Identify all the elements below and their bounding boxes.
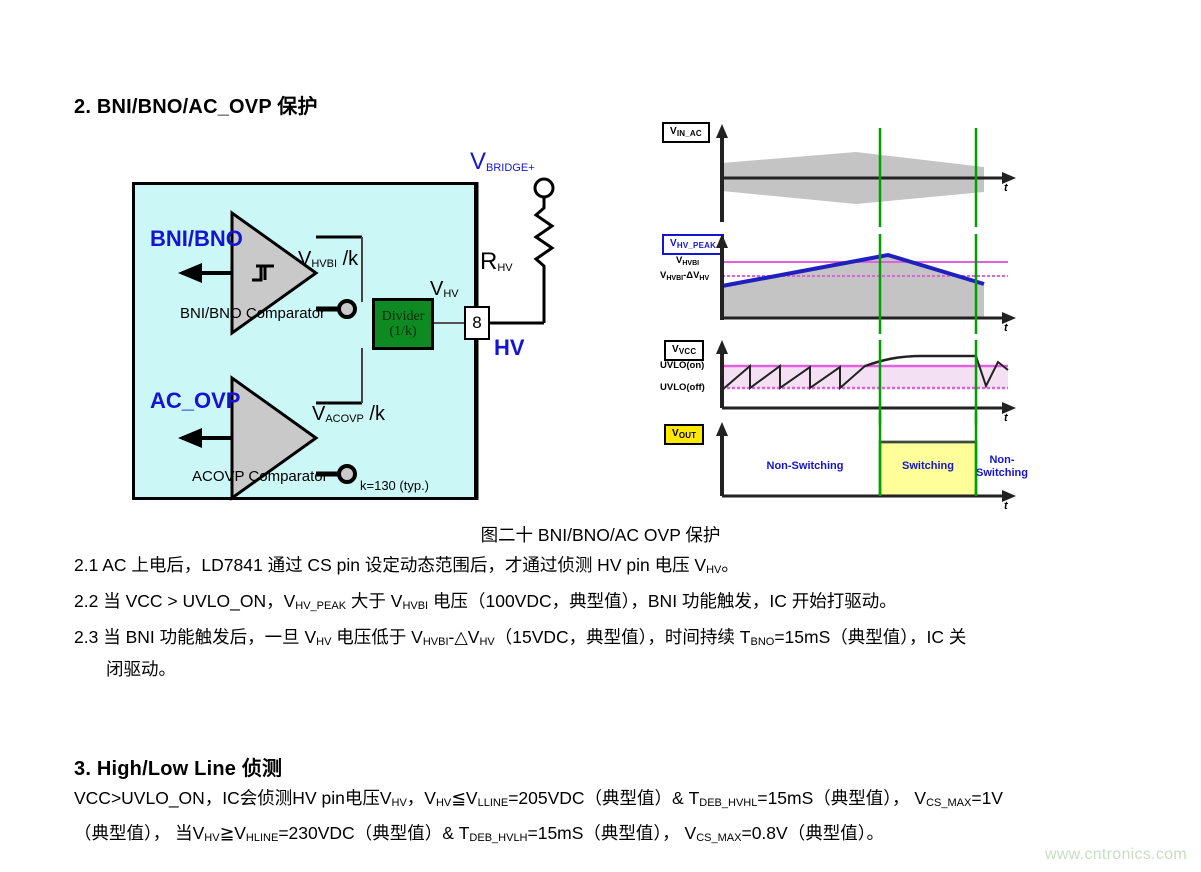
- item-2-1-text1: AC 上电后，LD7841 通过 CS pin 设定动态范围后，才通过侦测 HV…: [102, 555, 706, 575]
- item-2-2-text3: 电压（100VDC，典型值），BNI 功能触发，IC 开始打驱动。: [428, 591, 897, 611]
- zone-label-non-switching-1: Non-Switching: [740, 460, 870, 473]
- s3l1-t6: =1V: [971, 788, 1003, 808]
- s3l2-t3: =230VDC（典型值）& T: [278, 823, 469, 843]
- s3l1-t2: ，V: [407, 788, 436, 808]
- item-2-2: 2.2 当 VCC > UVLO_ON，VHV_PEAK 大于 VHVBI 电压…: [74, 586, 897, 621]
- vhv-sub: HV: [443, 288, 458, 300]
- item-2-1: 2.1 AC 上电后，LD7841 通过 CS pin 设定动态范围后，才通过侦…: [74, 550, 739, 585]
- section-2-heading: 2. BNI/BNO/AC_OVP 保护: [74, 90, 318, 119]
- v-bridge-sub: BRIDGE+: [486, 162, 535, 174]
- threshold-label-vhvbi: VHVBI: [676, 255, 699, 267]
- item-2-3-sub4: BNO: [750, 636, 774, 648]
- site-watermark: www.cntronics.com: [1045, 846, 1187, 864]
- timing-diagram: VIN_AC t VHV_PEAK: [660, 122, 1025, 512]
- panel-vvcc: VVCC UVLO(on) UVLO(off) t: [660, 340, 1025, 425]
- section-3-line-2: （典型值）， 当VHV≧VHLINE=230VDC（典型值）& TDEB_HVL…: [74, 818, 884, 853]
- label-hv-pin: HV: [494, 335, 525, 361]
- item-2-3-sub2: HVBI: [423, 636, 449, 648]
- s3l1-sub1: HV: [392, 797, 407, 809]
- item-2-3-text4: （15VDC，典型值），时间持续 T: [495, 627, 751, 647]
- section-3-heading: 3. High/Low Line 侦测: [74, 752, 282, 781]
- item-2-2-text1: 当 VCC > UVLO_ON，V: [103, 591, 295, 611]
- label-rhv: RHV: [480, 248, 513, 276]
- item-2-2-sub2: HVBI: [402, 600, 428, 612]
- label-bni-bno-comparator: BNI/BNO Comparator: [180, 305, 325, 322]
- item-2-1-sub1: HV: [706, 564, 721, 576]
- item-2-3-text1: 当 BNI 功能触发后，一旦 V: [103, 627, 316, 647]
- divider-label-line1: Divider: [375, 309, 431, 324]
- section-3-line-1: VCC>UVLO_ON，IC会侦测HV pin电压VHV，VHV≦VLLINE=…: [74, 783, 1003, 818]
- label-acovp-comparator: ACOVP Comparator: [192, 468, 328, 485]
- panel-vhv-peak: VHV_PEAK VHVBI VHVBI-ΔVHV t: [660, 234, 1025, 334]
- s3l1-t5: =15mS（典型值）， V: [757, 788, 926, 808]
- s3l2-sub4: CS_MAX: [696, 832, 741, 844]
- item-2-2-text2: 大于 V: [346, 591, 402, 611]
- s3l2-sub3: DEB_HVLH: [469, 832, 527, 844]
- item-2-3-text2: 电压低于 V: [331, 627, 422, 647]
- label-vhvbi-over-k: VHVBI /k: [298, 248, 358, 271]
- vhvbi-d-mid: -ΔV: [683, 270, 699, 281]
- s3l1-t1: VCC>UVLO_ON，IC会侦测HV pin电压V: [74, 788, 392, 808]
- s3l2-sub1: HV: [204, 832, 219, 844]
- item-2-3-num: 2.3: [74, 627, 98, 647]
- item-2-3-line1: 2.3 当 BNI 功能触发后，一旦 VHV 电压低于 VHVBI-△VHV（1…: [74, 622, 966, 657]
- s3l2-t2: ≧V: [220, 823, 246, 843]
- zone-label-non-switching-2: Non- Switching: [976, 454, 1028, 480]
- divider-block: Divider (1/k): [372, 298, 434, 350]
- label-ac-ovp: AC_OVP: [150, 388, 240, 414]
- axis-label-t-4: t: [1004, 500, 1008, 512]
- zone3-line2: Switching: [976, 467, 1028, 479]
- item-2-3-line2: 闭驱动。: [106, 654, 176, 684]
- item-2-2-sub1: HV_PEAK: [295, 600, 346, 612]
- item-2-3-sub3: HV: [479, 636, 494, 648]
- vhvbi-thr-sub: HVBI: [682, 260, 699, 267]
- threshold-label-uvlo-off: UVLO(off): [660, 382, 705, 393]
- s3l1-t4: =205VDC（典型值）& T: [508, 788, 699, 808]
- item-2-1-text2: 。: [721, 555, 739, 575]
- label-k-typical: k=130 (typ.): [360, 478, 429, 493]
- s3l2-sub2: HLINE: [246, 832, 278, 844]
- s3l2-t4: =15mS（典型值）， V: [528, 823, 697, 843]
- vhvbi-suffix: /k: [337, 248, 358, 270]
- axis-label-t-1: t: [1004, 182, 1008, 194]
- document-page: 2. BNI/BNO/AC_OVP 保护: [0, 0, 1201, 872]
- divider-label-line2: (1/k): [375, 324, 431, 339]
- item-2-1-num: 2.1: [74, 555, 98, 575]
- vacovp-sub: ACOVP: [325, 413, 364, 425]
- threshold-label-vhvbi-delta: VHVBI-ΔVHV: [660, 270, 709, 282]
- axis-label-t-2: t: [1004, 322, 1008, 334]
- zone-label-switching: Switching: [882, 460, 974, 473]
- item-2-3-text5: =15mS（典型值），IC 关: [774, 627, 966, 647]
- s3l2-t5: =0.8V（典型值）。: [741, 823, 883, 843]
- vacovp-suffix: /k: [364, 403, 385, 425]
- item-2-3-text3: -△V: [449, 627, 480, 647]
- rhv-base: R: [480, 248, 497, 275]
- panel-vin-ac: VIN_AC t: [660, 122, 1025, 227]
- s3l1-sub4: DEB_HVHL: [699, 797, 757, 809]
- circuit-diagram: BNI/BNO AC_OVP HV VBRIDGE+ BNI/BNO Compa…: [132, 120, 592, 520]
- vacovp-base: V: [312, 403, 325, 425]
- rhv-sub: HV: [497, 262, 512, 274]
- axis-label-t-3: t: [1004, 412, 1008, 424]
- vhv-base: V: [430, 278, 443, 300]
- threshold-label-uvlo-on: UVLO(on): [660, 360, 704, 371]
- s3l1-sub3: LLINE: [478, 797, 509, 809]
- s3l1-sub5: CS_MAX: [926, 797, 971, 809]
- zone3-line1: Non-: [989, 454, 1014, 466]
- pin-8-box: 8: [464, 306, 490, 340]
- s3l1-sub2: HV: [436, 797, 451, 809]
- v-bridge-base: V: [470, 148, 486, 175]
- item-2-2-num: 2.2: [74, 591, 98, 611]
- s3l1-t3: ≦V: [451, 788, 477, 808]
- s3l2-t1: （典型值）， 当V: [74, 823, 204, 843]
- vhvbi-base: V: [298, 248, 311, 270]
- label-bni-bno: BNI/BNO: [150, 226, 243, 252]
- vhvbi-d-sub: HVBI: [666, 275, 683, 282]
- figure-caption: 图二十 BNI/BNO/AC OVP 保护: [0, 522, 1201, 547]
- label-v-bridge-plus: VBRIDGE+: [470, 148, 535, 176]
- panel-vout: VOUT Non-Switching Switching Non- Switch…: [660, 424, 1025, 514]
- vhvbi-d-sub2: HV: [699, 275, 709, 282]
- item-2-3-sub1: HV: [316, 636, 331, 648]
- vhvbi-sub: HVBI: [311, 258, 337, 270]
- label-vacovp-over-k: VACOVP /k: [312, 403, 385, 426]
- label-vhv: VHV: [430, 278, 459, 301]
